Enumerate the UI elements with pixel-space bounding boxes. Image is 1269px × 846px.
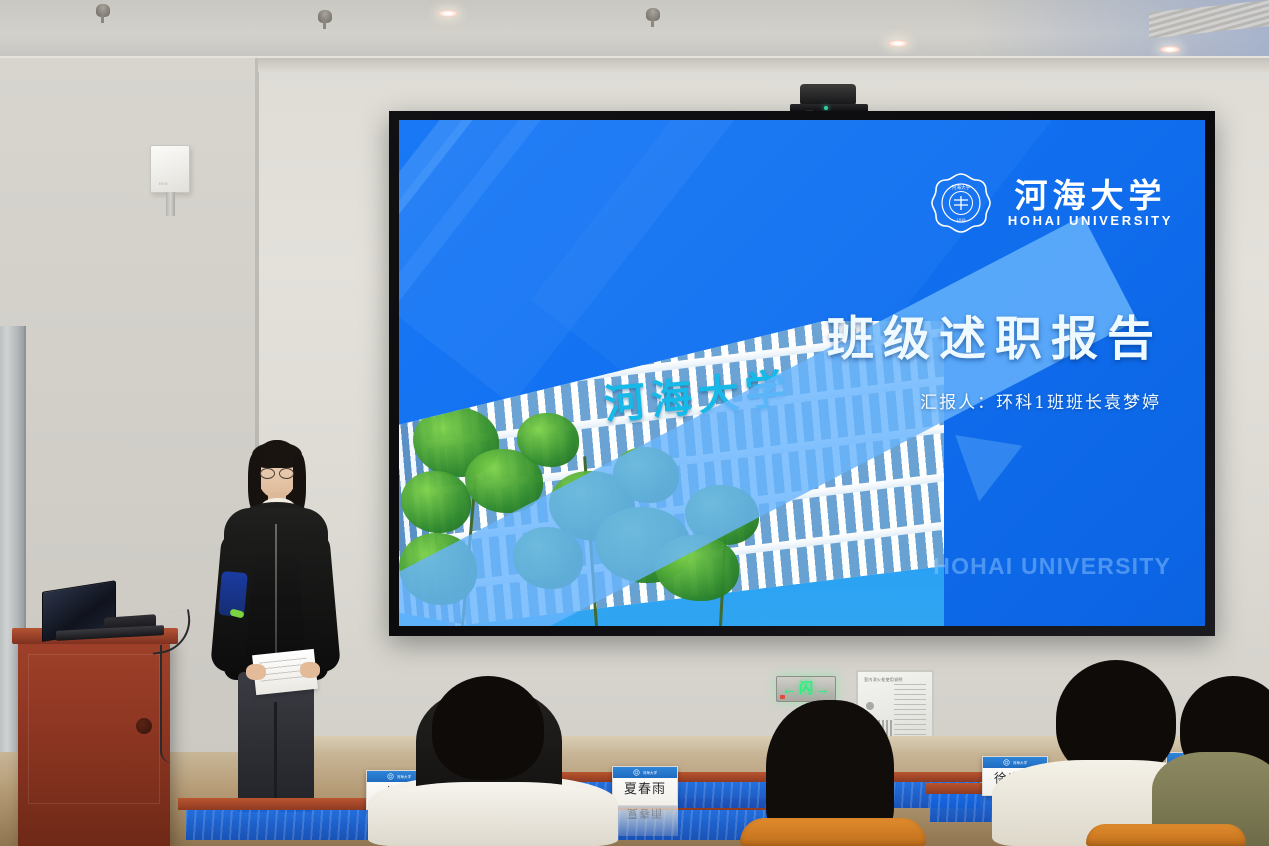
arrow-right-icon: → xyxy=(815,682,830,697)
slide-title: 班级述职报告 xyxy=(827,300,1163,369)
smoke-detector-icon xyxy=(318,10,332,23)
slide-triangle-accent xyxy=(946,435,1023,507)
namecard-logo-text: 河海大学 xyxy=(1013,760,1027,765)
tree-foliage xyxy=(517,413,579,467)
projector-led-icon xyxy=(824,106,828,110)
slide-background: 河海大学 xyxy=(399,120,1205,626)
wordmark-english: HOHAI UNIVERSITY xyxy=(1008,214,1173,227)
tree-foliage xyxy=(401,471,471,533)
svg-text:1915: 1915 xyxy=(956,217,966,222)
exit-led-icon xyxy=(780,695,785,699)
hohai-wordmark: 河海大学 HOHAI UNIVERSITY xyxy=(1008,179,1173,227)
speaker-brand-label: HiVi xyxy=(159,181,168,186)
glasses-icon xyxy=(260,468,294,477)
svg-text:河海大学: 河海大学 xyxy=(952,184,971,191)
auditorium-chair xyxy=(740,818,926,846)
cable xyxy=(160,645,176,763)
presenter xyxy=(208,440,342,810)
hohai-seal-icon xyxy=(1003,759,1010,766)
exit-character: 闪 xyxy=(799,682,813,696)
lectern xyxy=(18,636,170,846)
wall-speaker: HiVi xyxy=(150,145,190,193)
sprinkler-icon xyxy=(96,4,110,17)
namecard-header: 河海大学 xyxy=(613,767,677,778)
presentation-screen[interactable]: 河海大学 xyxy=(389,111,1215,636)
presenter-hair-side xyxy=(248,454,261,510)
lecture-hall-photo: HiVi xyxy=(0,0,1269,846)
namecard: 河海大学 夏春雨 xyxy=(612,766,678,806)
notice-dot-icon xyxy=(866,702,874,710)
auditorium-chair xyxy=(1086,824,1246,846)
hohai-seal-icon: 河海大学 1915 xyxy=(930,172,992,234)
sprinkler-icon xyxy=(646,8,660,21)
namecard-name: 夏春雨 xyxy=(613,780,677,801)
slide-watermark: HOHAI UNIVERSITY xyxy=(933,553,1171,580)
hohai-seal-icon xyxy=(387,773,394,780)
wordmark-chinese: 河海大学 xyxy=(1014,179,1166,212)
hohai-seal-icon xyxy=(633,769,640,776)
notice-text-lines xyxy=(894,684,926,738)
screen-surface: 河海大学 xyxy=(399,120,1205,626)
downlight-icon xyxy=(1160,46,1180,53)
namecard-reflection: 夏春雨 xyxy=(612,806,678,836)
audience-head xyxy=(432,676,544,780)
jacket-zipper xyxy=(275,524,277,666)
lectern-knob-icon xyxy=(136,718,152,734)
downlight-icon xyxy=(888,40,908,47)
presenter-hand xyxy=(300,662,320,678)
emergency-exit-sign: ← 闪 → xyxy=(776,676,836,702)
wall-top-band xyxy=(258,58,1269,72)
downlight-icon xyxy=(438,10,458,17)
audience-jacket xyxy=(370,782,618,846)
slide-subtitle: 汇报人：环科1班班长袁梦婷 xyxy=(920,388,1161,413)
namecard-logo-text: 河海大学 xyxy=(643,770,657,775)
hohai-brand-lockup: 河海大学 1915 河海大学 HOHAI UNIVERSITY xyxy=(930,172,1173,234)
speaker-mount xyxy=(166,192,175,216)
notice-title: 室内消火栓使用说明 xyxy=(864,677,903,683)
presenter-hand xyxy=(246,664,266,680)
namecard-reflection-name: 夏春雨 xyxy=(612,806,678,826)
trouser-seam xyxy=(274,702,277,806)
ceiling-projector-unit xyxy=(800,84,856,106)
namecard-logo-text: 河海大学 xyxy=(397,774,411,779)
